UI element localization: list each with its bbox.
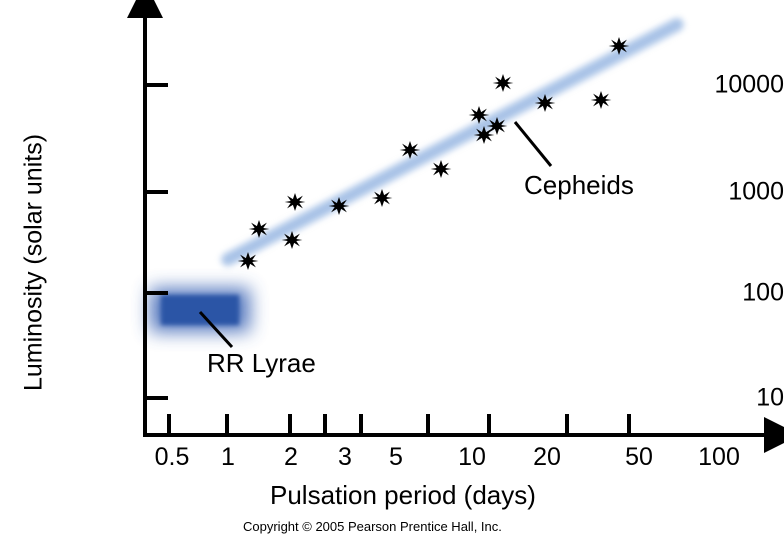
x-tick-label-100: 100 — [698, 443, 740, 472]
cepheids-leader-line — [515, 122, 551, 166]
y-tick-label-100: 100 — [652, 279, 784, 308]
rr-lyrae-annotation-label: RR Lyrae — [207, 348, 316, 379]
period-luminosity-figure: 10000 1000 100 10 0.5 1 2 3 5 10 20 50 1… — [0, 0, 784, 542]
y-axis-ticks — [145, 85, 168, 398]
y-axis-title: Luminosity (solar units) — [20, 113, 49, 413]
data-point — [282, 231, 303, 249]
rr-lyrae-leader-line — [200, 312, 232, 347]
data-points — [238, 37, 630, 270]
y-tick-label-10000: 10000 — [652, 71, 784, 100]
x-axis-title: Pulsation period (days) — [270, 480, 536, 511]
copyright-notice: Copyright © 2005 Pearson Prentice Hall, … — [243, 519, 502, 534]
data-point — [469, 106, 490, 124]
x-tick-label-5: 5 — [389, 443, 403, 472]
data-point — [431, 160, 452, 178]
data-point — [329, 197, 350, 215]
x-tick-label-10: 10 — [458, 443, 486, 472]
x-tick-label-20: 20 — [533, 443, 561, 472]
x-tick-label-2: 2 — [284, 443, 298, 472]
data-point — [591, 91, 612, 109]
data-point — [285, 193, 306, 211]
data-point — [249, 220, 270, 238]
y-tick-label-10: 10 — [652, 384, 784, 413]
x-tick-label-50: 50 — [625, 443, 653, 472]
x-tick-label-0-5: 0.5 — [155, 443, 190, 472]
data-point — [400, 141, 421, 159]
data-point — [535, 94, 556, 112]
x-tick-label-1: 1 — [221, 443, 235, 472]
data-point — [487, 117, 508, 135]
data-point — [474, 126, 495, 144]
data-point — [609, 37, 630, 55]
data-point — [238, 252, 259, 270]
x-axis-ticks — [169, 414, 629, 435]
cepheids-annotation-label: Cepheids — [524, 170, 634, 201]
x-tick-label-3: 3 — [338, 443, 352, 472]
data-point — [372, 189, 393, 207]
y-tick-label-1000: 1000 — [652, 178, 784, 207]
data-point — [493, 74, 514, 92]
